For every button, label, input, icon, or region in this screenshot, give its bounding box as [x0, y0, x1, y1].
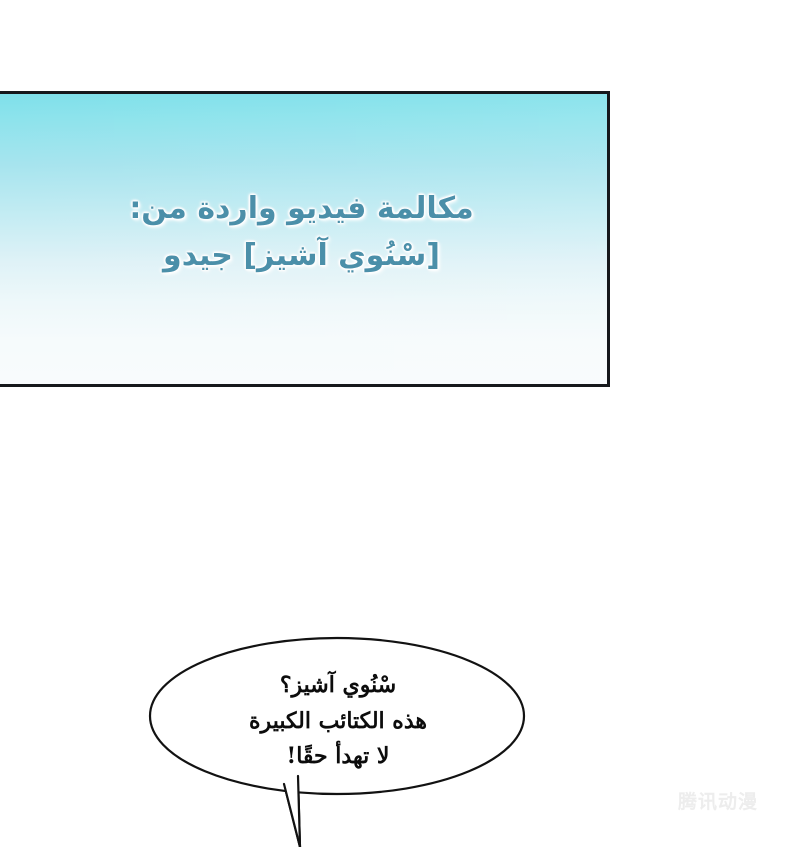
balloon-text-line-3: لا تهدأ حقًا! [148, 739, 528, 775]
speech-balloon: سْنُوي آشيز؟ هذه الكتائب الكبيرة لا تهدأ… [148, 636, 528, 847]
tencent-comics-watermark: 腾讯动漫 [658, 790, 778, 814]
call-text-block: مكالمة فيديو واردة من: [سْنُوي آشيز] جيد… [0, 186, 607, 279]
call-text-line-2: [سْنُوي آشيز] جيدو [0, 233, 607, 280]
balloon-text-line-1: سْنُوي آشيز؟ [148, 668, 528, 704]
incoming-video-call-panel: مكالمة فيديو واردة من: [سْنُوي آشيز] جيد… [0, 91, 610, 387]
call-text-line-1: مكالمة فيديو واردة من: [0, 186, 607, 233]
speech-balloon-text: سْنُوي آشيز؟ هذه الكتائب الكبيرة لا تهدأ… [148, 668, 528, 775]
balloon-text-line-2: هذه الكتائب الكبيرة [148, 704, 528, 740]
